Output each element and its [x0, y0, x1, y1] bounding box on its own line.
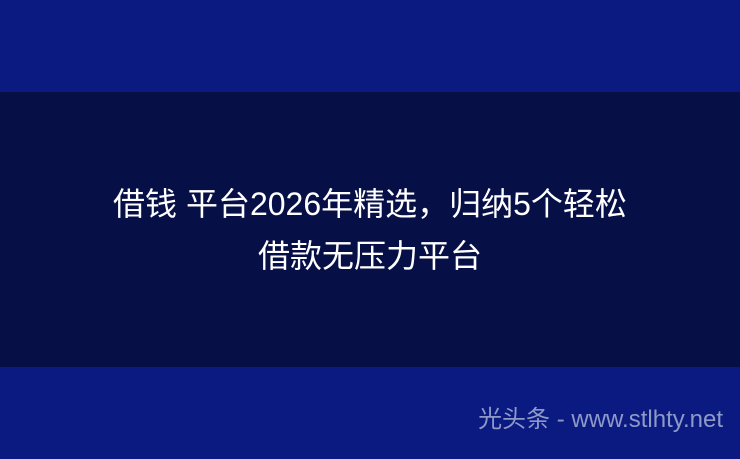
headline-block: 借钱 平台2026年精选，归纳5个轻松 借款无压力平台 — [0, 92, 740, 367]
headline-line-1: 借钱 平台2026年精选，归纳5个轻松 — [113, 178, 627, 230]
promo-banner: 借钱 平台2026年精选，归纳5个轻松 借款无压力平台 光头条 - www.st… — [0, 0, 740, 459]
banner-top-band — [0, 0, 740, 92]
watermark: 光头条 - www.stlhty.net — [478, 405, 723, 435]
headline-line-2: 借款无压力平台 — [258, 230, 482, 282]
